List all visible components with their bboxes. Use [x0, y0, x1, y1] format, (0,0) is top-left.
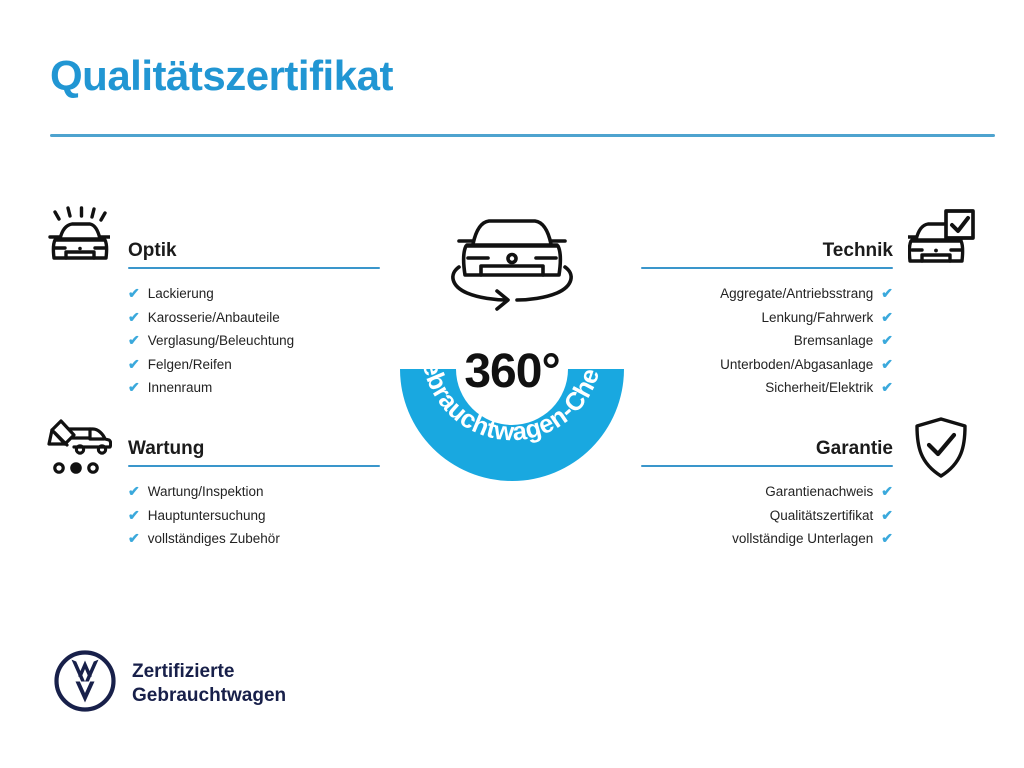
list-item-label: Sicherheit/Elektrik	[765, 376, 873, 400]
footer-brand-lockup: Zertifizierte Gebrauchtwagen	[54, 650, 286, 717]
list-item: ✔ Verglasung/Beleuchtung	[128, 329, 380, 353]
list-item-label: vollständige Unterlagen	[732, 527, 873, 551]
check-icon: ✔	[881, 376, 893, 400]
badge-360-gebrauchtwagen-check: Gebrauchtwagen-Check	[372, 196, 652, 486]
list-item-label: Bremsanlage	[794, 329, 874, 353]
footer-text: Zertifizierte Gebrauchtwagen	[132, 660, 286, 708]
section-divider-garantie	[641, 465, 893, 467]
list-item-label: Innenraum	[148, 376, 213, 400]
list-item-label: Qualitätszertifikat	[770, 504, 874, 528]
section-optik: Optik ✔ Lackierung ✔ Karosserie/Anbautei…	[128, 240, 380, 400]
list-item-label: Felgen/Reifen	[148, 353, 232, 377]
list-item: Aggregate/Antriebsstrang ✔	[641, 282, 893, 306]
list-item-label: Unterboden/Abgasanlage	[720, 353, 873, 377]
checklist-garantie: Garantienachweis ✔ Qualitätszertifikat ✔…	[641, 480, 893, 551]
footer-line-2: Gebrauchtwagen	[132, 684, 286, 708]
list-item: vollständige Unterlagen ✔	[641, 527, 893, 551]
section-heading-optik: Optik	[128, 240, 380, 262]
checklist-optik: ✔ Lackierung ✔ Karosserie/Anbauteile ✔ V…	[128, 282, 380, 400]
list-item-label: Lenkung/Fahrwerk	[761, 306, 873, 330]
section-heading-technik: Technik	[641, 240, 893, 262]
list-item: ✔ Karosserie/Anbauteile	[128, 306, 380, 330]
title-divider	[50, 134, 995, 137]
car-front-rotate-icon	[453, 221, 571, 309]
check-icon: ✔	[128, 353, 140, 377]
checklist-wartung: ✔ Wartung/Inspektion ✔ Hauptuntersuchung…	[128, 480, 380, 551]
list-item-label: Aggregate/Antriebsstrang	[720, 282, 873, 306]
list-item: Lenkung/Fahrwerk ✔	[641, 306, 893, 330]
list-item: ✔ vollständiges Zubehör	[128, 527, 380, 551]
badge-curved-label: Gebrauchtwagen-Check	[372, 196, 605, 447]
section-heading-garantie: Garantie	[641, 438, 893, 460]
check-icon: ✔	[128, 329, 140, 353]
check-icon: ✔	[881, 353, 893, 377]
vw-logo-icon	[54, 650, 116, 717]
list-item: ✔ Felgen/Reifen	[128, 353, 380, 377]
list-item-label: Karosserie/Anbauteile	[148, 306, 280, 330]
section-divider-technik	[641, 267, 893, 269]
shield-check-icon	[912, 416, 970, 485]
check-icon: ✔	[881, 282, 893, 306]
list-item: ✔ Wartung/Inspektion	[128, 480, 380, 504]
check-icon: ✔	[128, 480, 140, 504]
list-item-label: Hauptuntersuchung	[148, 504, 266, 528]
checklist-technik: Aggregate/Antriebsstrang ✔ Lenkung/Fahrw…	[641, 282, 893, 400]
list-item-label: Verglasung/Beleuchtung	[148, 329, 294, 353]
check-icon: ✔	[881, 527, 893, 551]
list-item: ✔ Lackierung	[128, 282, 380, 306]
certificate-page: Qualitätszertifikat	[0, 0, 1024, 768]
car-front-shine-icon	[46, 206, 110, 273]
list-item: ✔ Innenraum	[128, 376, 380, 400]
list-item-label: Garantienachweis	[765, 480, 873, 504]
car-front-checkbox-icon	[908, 209, 976, 276]
list-item-label: vollständiges Zubehör	[148, 527, 280, 551]
badge-ring: Gebrauchtwagen-Check	[372, 196, 652, 486]
check-icon: ✔	[128, 527, 140, 551]
check-icon: ✔	[128, 306, 140, 330]
check-icon: ✔	[128, 282, 140, 306]
list-item: Unterboden/Abgasanlage ✔	[641, 353, 893, 377]
list-item: Bremsanlage ✔	[641, 329, 893, 353]
section-divider-wartung	[128, 465, 380, 467]
section-divider-optik	[128, 267, 380, 269]
page-title: Qualitätszertifikat	[50, 52, 393, 100]
check-icon: ✔	[881, 329, 893, 353]
section-wartung: Wartung ✔ Wartung/Inspektion ✔ Hauptunte…	[128, 438, 380, 551]
section-heading-wartung: Wartung	[128, 438, 380, 460]
section-garantie: Garantie Garantienachweis ✔ Qualitätszer…	[641, 438, 893, 551]
check-icon: ✔	[881, 504, 893, 528]
list-item: Qualitätszertifikat ✔	[641, 504, 893, 528]
check-icon: ✔	[128, 504, 140, 528]
check-icon: ✔	[881, 480, 893, 504]
section-technik: Technik Aggregate/Antriebsstrang ✔ Lenku…	[641, 240, 893, 400]
list-item: Sicherheit/Elektrik ✔	[641, 376, 893, 400]
footer-line-1: Zertifizierte	[132, 660, 286, 684]
pencil-car-service-icon	[46, 418, 112, 481]
list-item: ✔ Hauptuntersuchung	[128, 504, 380, 528]
check-icon: ✔	[881, 306, 893, 330]
check-icon: ✔	[128, 376, 140, 400]
list-item: Garantienachweis ✔	[641, 480, 893, 504]
list-item-label: Wartung/Inspektion	[148, 480, 264, 504]
list-item-label: Lackierung	[148, 282, 214, 306]
